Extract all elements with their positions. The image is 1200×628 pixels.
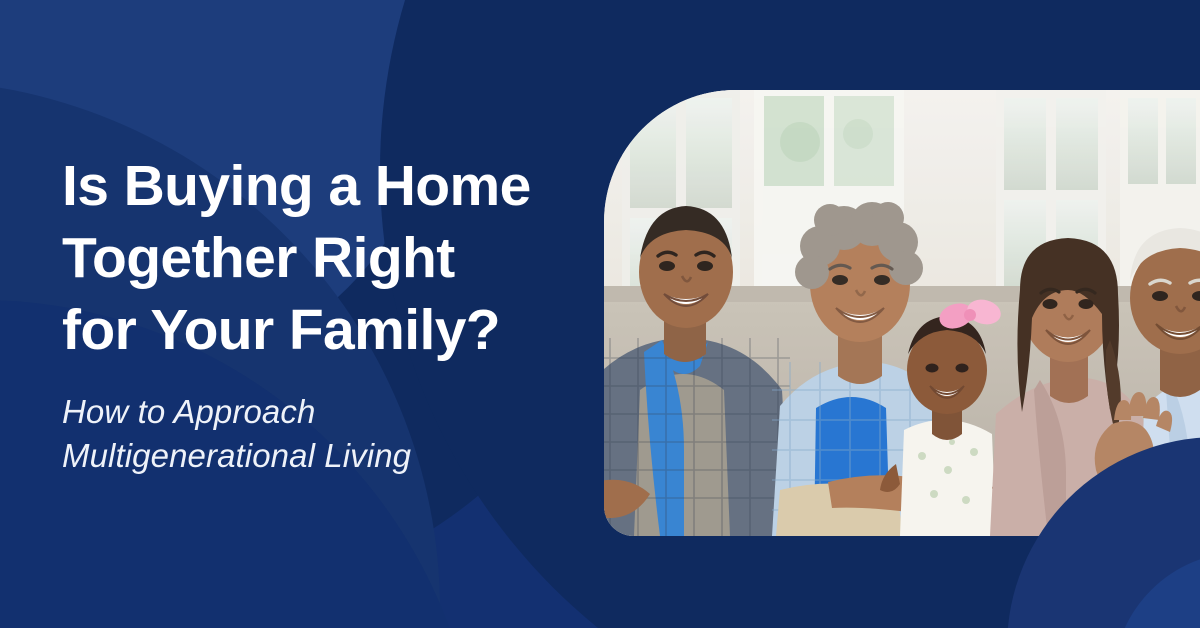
text-block: Is Buying a Home Together Right for Your… (62, 150, 582, 478)
banner-canvas: Is Buying a Home Together Right for Your… (0, 0, 1200, 628)
page-title: Is Buying a Home Together Right for Your… (62, 150, 582, 366)
page-subtitle: How to Approach Multigenerational Living (62, 366, 582, 478)
